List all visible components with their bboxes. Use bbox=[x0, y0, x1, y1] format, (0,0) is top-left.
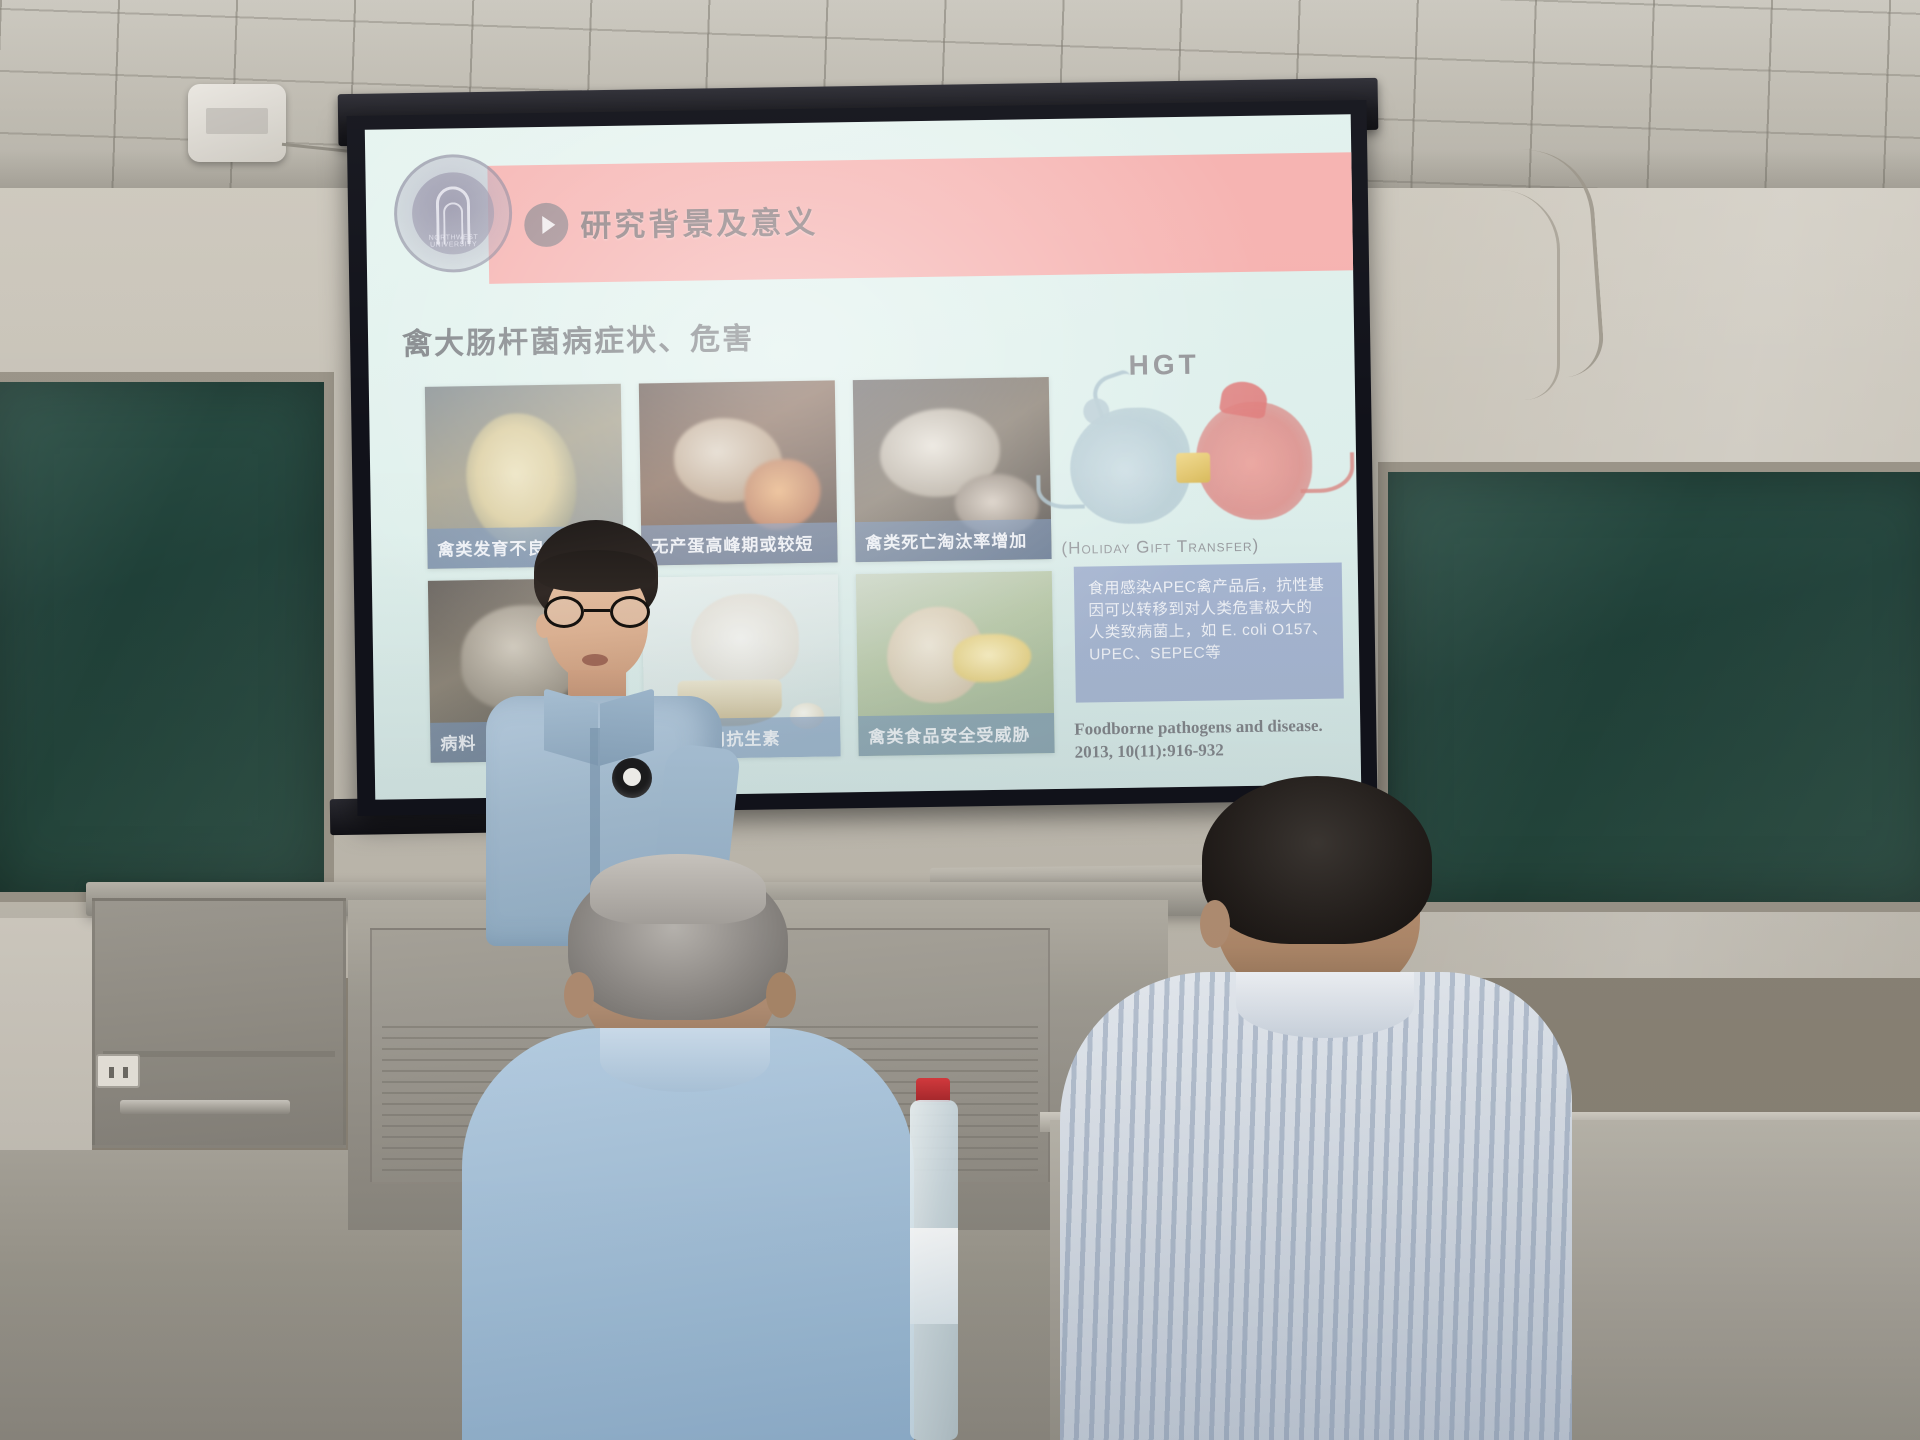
ear-shape bbox=[1083, 398, 1109, 424]
bottle-label bbox=[910, 1228, 958, 1324]
lens-right bbox=[610, 596, 650, 628]
gift-icon bbox=[1176, 453, 1210, 484]
logo-ring-text: NORTHWEST UNIVERSITY bbox=[412, 234, 494, 249]
apec-line-3: 人类致病菌上，如 E. coli O157、 bbox=[1089, 619, 1329, 645]
photo-scene: NORTHWEST UNIVERSITY 研究背景及意义 禽大肠杆菌病症状、危害… bbox=[0, 0, 1920, 1440]
glasses-bridge bbox=[584, 609, 610, 612]
photo-caption: 禽类死亡淘汰率增加 bbox=[855, 519, 1052, 562]
hgt-sub-label: (Holiday Gift Transfer) bbox=[1061, 536, 1259, 559]
audience-member-front bbox=[440, 860, 940, 1440]
audience-collar bbox=[600, 1028, 770, 1092]
santa-hat-shape bbox=[1219, 379, 1270, 420]
apec-text-box: 食用感染APEC禽产品后，抗性基 因可以转移到对人类危害极大的 人类致病菌上，如… bbox=[1074, 562, 1344, 702]
bottle-cap bbox=[916, 1078, 950, 1102]
tail-shape bbox=[1300, 452, 1355, 493]
audience-ear-left bbox=[564, 972, 594, 1018]
wireless-access-point-icon bbox=[188, 84, 286, 162]
audience-striped-shirt bbox=[1060, 972, 1572, 1440]
slide-citation: Foodborne pathogens and disease. 2013, 1… bbox=[1074, 714, 1361, 765]
slide-photo-6: 禽类食品安全受威胁 bbox=[856, 571, 1055, 756]
slide-subtitle: 禽大肠杆菌病症状、危害 bbox=[402, 314, 755, 364]
presenter-fringe bbox=[536, 550, 656, 592]
water-bottle bbox=[908, 1078, 960, 1440]
audience-member-right bbox=[1050, 776, 1570, 1440]
audience-ear bbox=[1200, 900, 1230, 948]
audience-ear-right bbox=[766, 972, 796, 1018]
blackboard-left bbox=[0, 372, 334, 902]
access-point-label bbox=[206, 108, 268, 134]
audience-collar bbox=[1236, 972, 1414, 1038]
cabinet-handle bbox=[120, 1100, 290, 1114]
presenter-badge-icon bbox=[612, 758, 652, 798]
audience-hair bbox=[1202, 776, 1432, 944]
mouse-illustration-left bbox=[1069, 407, 1191, 525]
audience-hair-top bbox=[590, 854, 766, 924]
food-illustration bbox=[953, 633, 1032, 682]
power-socket-icon bbox=[96, 1054, 140, 1088]
slide-photo-3: 禽类死亡淘汰率增加 bbox=[853, 377, 1052, 562]
mouse-illustration-right bbox=[1195, 401, 1313, 521]
citation-line-2: 2013, 10(11):916-932 bbox=[1074, 737, 1361, 765]
slide-header-title: 研究背景及意义 bbox=[580, 197, 819, 246]
tissue-image-b bbox=[744, 459, 821, 530]
apec-line-4: UPEC、SEPEC等 bbox=[1089, 641, 1329, 667]
hgt-label: HGT bbox=[1128, 349, 1200, 382]
citation-line-1: Foodborne pathogens and disease. bbox=[1074, 714, 1361, 742]
presenter-mouth bbox=[582, 654, 608, 666]
wall-cable-right-2 bbox=[1470, 190, 1560, 400]
photo-caption: 禽类食品安全受威胁 bbox=[858, 713, 1055, 756]
lens-left bbox=[544, 596, 584, 628]
blackboard-sheen bbox=[0, 382, 324, 892]
logo-emblem: NORTHWEST UNIVERSITY bbox=[411, 172, 494, 255]
eyeglasses-icon bbox=[542, 596, 654, 628]
